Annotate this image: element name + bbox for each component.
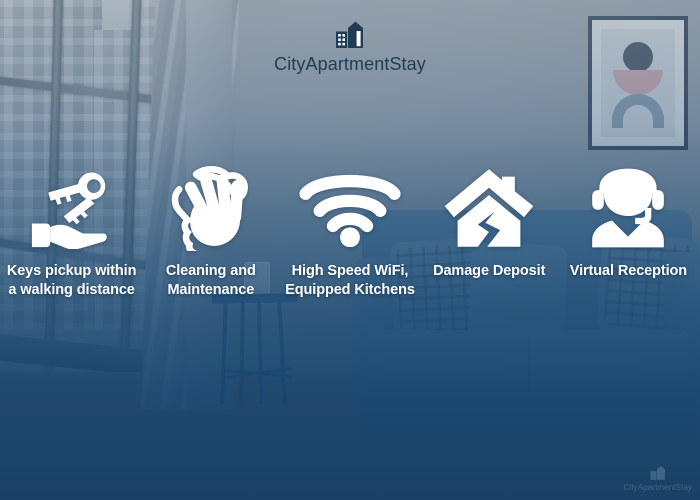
feature-label: High Speed WiFi, Equipped Kitchens	[280, 262, 419, 300]
building-icon	[333, 18, 367, 52]
feature-list: Keys pickup within a walking distance	[0, 168, 700, 300]
watermark-text: CityApartmentStay	[624, 483, 692, 492]
keys-in-hand-icon	[22, 168, 122, 248]
wifi-icon	[298, 168, 402, 248]
damaged-house-icon	[441, 168, 537, 248]
feature-label: Virtual Reception	[570, 262, 687, 281]
washing-hand-icon	[166, 168, 256, 248]
building-icon	[649, 464, 667, 482]
feature-item-virtual-reception[interactable]: Virtual Reception	[559, 168, 698, 281]
feature-label: Damage Deposit	[433, 262, 545, 281]
brand-lockup[interactable]: CityApartmentStay	[0, 18, 700, 75]
banner-content: CityApartmentStay Ke	[0, 0, 700, 500]
feature-label: Keys pickup within a walking distance	[2, 262, 141, 300]
promo-banner: CityApartmentStay Ke	[0, 0, 700, 500]
feature-label: Cleaning and Maintenance	[141, 262, 280, 300]
feature-item-keys[interactable]: Keys pickup within a walking distance	[2, 168, 141, 300]
headset-agent-icon	[585, 168, 671, 248]
feature-item-wifi[interactable]: High Speed WiFi, Equipped Kitchens	[280, 168, 419, 300]
feature-item-cleaning[interactable]: Cleaning and Maintenance	[141, 168, 280, 300]
feature-item-damage-deposit[interactable]: Damage Deposit	[420, 168, 559, 281]
brand-name: CityApartmentStay	[274, 54, 426, 75]
watermark: CityApartmentStay	[624, 464, 692, 492]
